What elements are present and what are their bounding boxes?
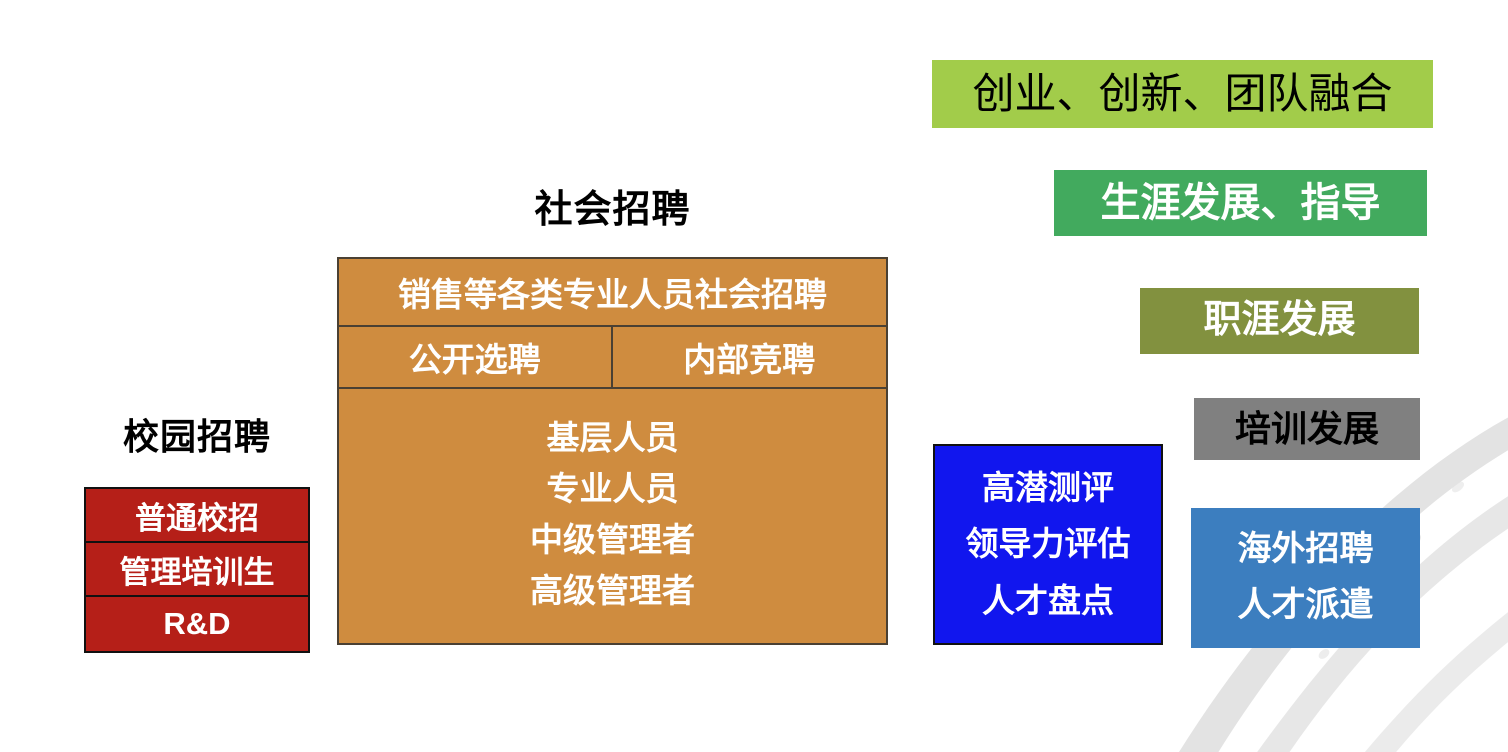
overseas-line-dispatch: 人才派遣 [1238,578,1374,634]
social-channel-label: 内部竞聘 [683,333,815,381]
social-channel-label: 公开选聘 [409,333,541,381]
campus-item-label: 普通校招 [135,493,259,538]
campus-item-label: 管理培训生 [120,547,275,592]
program-career-development-banner[interactable]: 生涯发展、指导 [1054,170,1427,236]
assessment-line-talent-review: 人才盘点 [982,573,1114,630]
program-entrepreneurship-label: 创业、创新、团队融合 [972,71,1392,117]
social-header-cell[interactable]: 销售等各类专业人员社会招聘 [339,268,886,316]
campus-item-general[interactable]: 普通校招 [86,489,308,543]
table-row-header: 销售等各类专业人员社会招聘 [339,259,886,327]
social-level-professional: 专业人员 [547,463,679,514]
campus-recruiting-stack: 普通校招 管理培训生 R&D [84,487,310,653]
campus-item-label: R&D [163,606,230,642]
program-career-path-banner[interactable]: 职涯发展 [1140,288,1419,354]
social-header-label: 销售等各类专业人员社会招聘 [398,268,827,316]
program-entrepreneurship-banner[interactable]: 创业、创新、团队融合 [932,60,1433,128]
program-training-banner[interactable]: 培训发展 [1194,398,1420,460]
program-training-label: 培训发展 [1235,409,1379,449]
social-level-senior-manager: 高级管理者 [530,565,695,616]
social-recruiting-label: 社会招聘 [337,178,888,233]
program-career-path-label: 职涯发展 [1203,300,1355,342]
slide-canvas: 校园招聘 普通校招 管理培训生 R&D 社会招聘 销售等各类专业人员社会招聘 公… [0,0,1508,752]
social-level-middle-manager: 中级管理者 [530,514,695,565]
assessment-box[interactable]: 高潜测评 领导力评估 人才盘点 [933,444,1163,645]
social-recruiting-table: 销售等各类专业人员社会招聘 公开选聘 内部竞聘 基层人员 专业人员 中级管理者 … [337,257,888,645]
social-channel-internal[interactable]: 内部竞聘 [613,327,887,387]
social-channel-open[interactable]: 公开选聘 [339,327,613,387]
campus-item-rnd[interactable]: R&D [86,597,308,651]
campus-item-management-trainee[interactable]: 管理培训生 [86,543,308,597]
assessment-line-leadership: 领导力评估 [966,516,1131,573]
overseas-box[interactable]: 海外招聘 人才派遣 [1191,508,1420,648]
table-row-levels: 基层人员 专业人员 中级管理者 高级管理者 [339,389,886,643]
campus-recruiting-label: 校园招聘 [84,408,310,460]
overseas-line-recruiting: 海外招聘 [1238,522,1374,578]
assessment-line-high-potential: 高潜测评 [982,460,1114,517]
social-level-entry: 基层人员 [547,412,679,463]
table-row-channels: 公开选聘 内部竞聘 [339,327,886,389]
program-career-development-label: 生涯发展、指导 [1101,181,1381,225]
